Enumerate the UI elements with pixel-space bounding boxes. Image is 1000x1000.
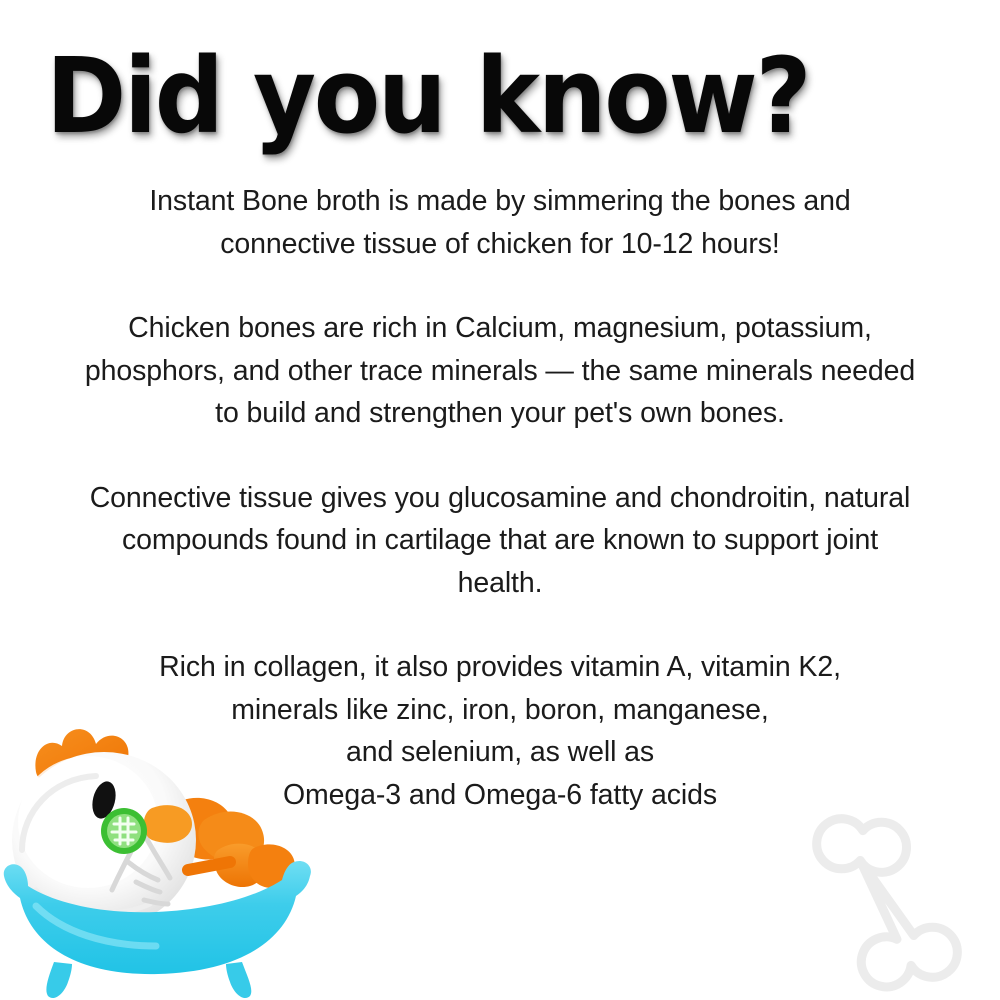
poster-canvas: Did you know? Instant Bone broth is made…: [0, 0, 1000, 1000]
paragraph-line: connective tissue of chicken for 10-12 h…: [38, 223, 962, 266]
paragraph-simmering: Instant Bone broth is made by simmering …: [38, 180, 962, 265]
page-title-text: Did you know?: [46, 40, 890, 152]
paragraph-connective-tissue: Connective tissue gives you glucosamine …: [38, 477, 962, 605]
page-title: Did you know?: [46, 40, 954, 158]
chicken-in-bathtub-illustration: [0, 700, 322, 1000]
paragraph-line: phosphors, and other trace minerals — th…: [38, 350, 962, 393]
paragraph-line: to build and strengthen your pet's own b…: [38, 392, 962, 435]
paragraph-line: Connective tissue gives you glucosamine …: [38, 477, 962, 520]
cucumber-slice-icon: [101, 808, 147, 854]
paragraph-line: Chicken bones are rich in Calcium, magne…: [38, 307, 962, 350]
paragraph-line: Instant Bone broth is made by simmering …: [38, 180, 962, 223]
paragraph-line: compounds found in cartilage that are kn…: [38, 519, 962, 562]
chicken-beak-icon: [144, 805, 192, 843]
paragraph-line: Rich in collagen, it also provides vitam…: [38, 646, 962, 689]
bone-watermark: [782, 798, 992, 998]
paragraph-line: health.: [38, 562, 962, 605]
paragraph-minerals: Chicken bones are rich in Calcium, magne…: [38, 307, 962, 435]
